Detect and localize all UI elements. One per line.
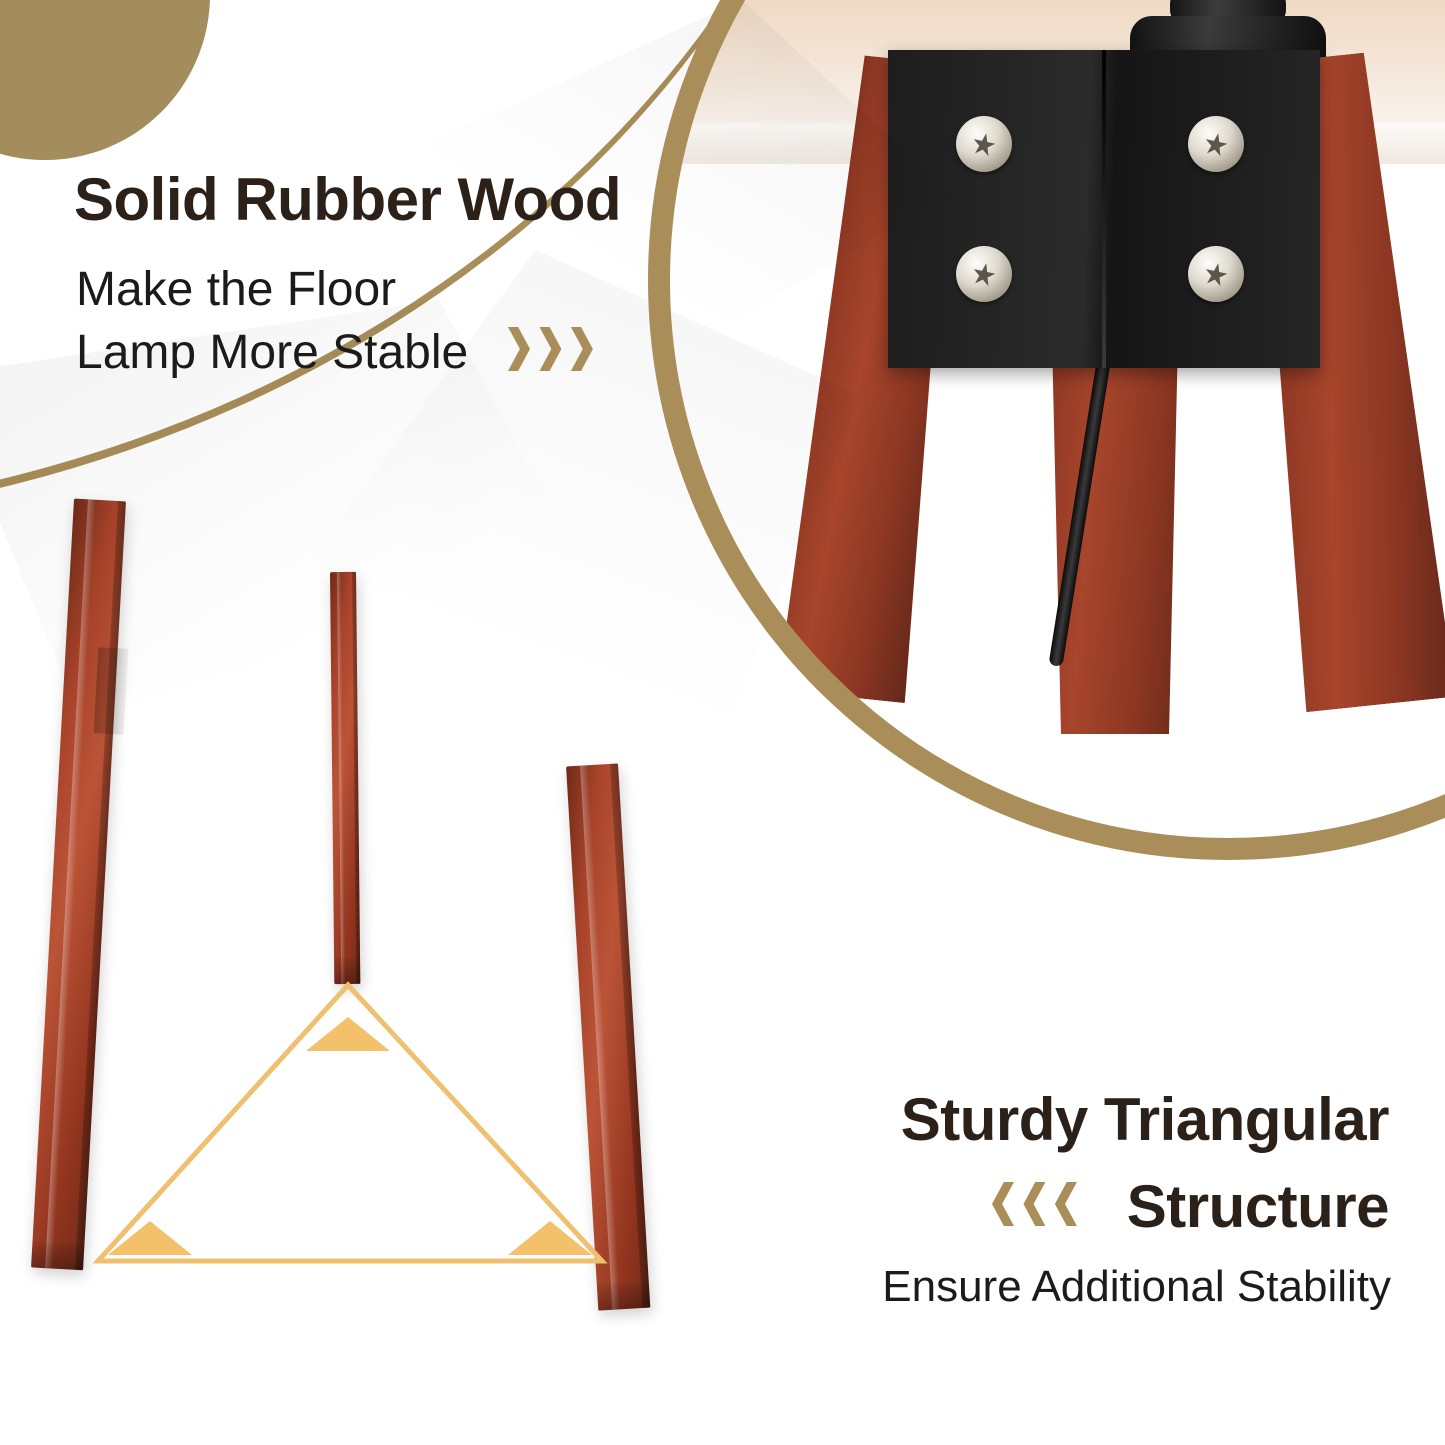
stability-triangle-graphic: [90, 975, 610, 1275]
chevron-left-icon: [992, 1182, 1014, 1226]
leg-notch: [94, 647, 129, 735]
chevron-right-icon: [571, 327, 593, 371]
bottom-right-subline: Ensure Additional Stability: [882, 1262, 1391, 1312]
bottom-right-headline-line-2: Structure: [1127, 1175, 1389, 1238]
screw-icon: [956, 246, 1012, 302]
chevron-left-icon: [1055, 1182, 1077, 1226]
wood-leg-center: [330, 572, 360, 984]
screw-icon: [956, 116, 1012, 172]
top-left-subline-2: Lamp More Stable: [76, 325, 468, 380]
top-left-subline-1: Make the Floor: [76, 262, 396, 317]
bottom-right-headline-line-1: Sturdy Triangular: [901, 1088, 1389, 1151]
screw-icon: [1188, 246, 1244, 302]
chevron-left-icon: [1023, 1182, 1045, 1226]
chevron-right-icon: [539, 327, 561, 371]
top-left-headline: Solid Rubber Wood: [74, 168, 621, 231]
product-feature-poster: Solid Rubber Wood Make the Floor Lamp Mo…: [0, 0, 1445, 1445]
product-photo-circle: [648, 0, 1445, 860]
screw-icon: [1188, 116, 1244, 172]
chevron-right-icon: [508, 327, 530, 371]
metal-mounting-bracket: [888, 50, 1320, 368]
chevron-right-icon-group: [508, 327, 598, 371]
triangle-icon: [90, 975, 610, 1275]
chevron-left-icon-group: [992, 1182, 1082, 1226]
